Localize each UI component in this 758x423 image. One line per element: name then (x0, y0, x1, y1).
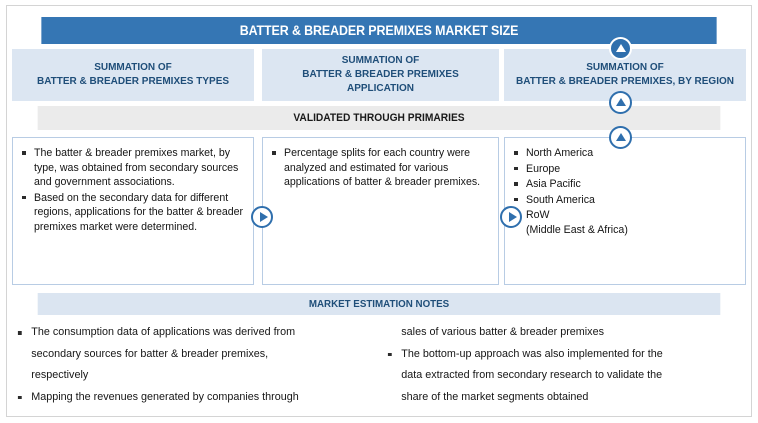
notes-left-list: The consumption data of applications was… (16, 322, 378, 408)
list-item: The batter & breader premixes market, by… (19, 146, 245, 190)
list-item: Based on the secondary data for differen… (19, 191, 245, 235)
summation-box-types: SUMMATION OF BATTER & BREADER PREMIXES T… (12, 49, 254, 101)
up-arrow-icon-2 (609, 91, 632, 114)
infographic-canvas: BATTER & BREADER PREMIXES MARKET SIZE SU… (0, 0, 758, 423)
list-item-label: RoW (526, 209, 550, 221)
summation-box-application: SUMMATION OF BATTER & BREADER PREMIXES A… (262, 49, 499, 101)
list-item-sublabel: (Middle East & Africa) (526, 223, 737, 238)
content-panels-row: The batter & breader premixes market, by… (12, 137, 746, 285)
summation-box-region-line1: SUMMATION OF (586, 61, 664, 75)
panel-regions: North America Europe Asia Pacific South … (504, 137, 746, 285)
panel-application: Percentage splits for each country were … (262, 137, 499, 285)
play-arrow-icon-1 (251, 206, 273, 228)
market-estimation-notes-body: The consumption data of applications was… (12, 322, 746, 414)
summation-boxes-row: SUMMATION OF BATTER & BREADER PREMIXES T… (12, 49, 746, 101)
list-item-continuation: sales of various batter & breader premix… (386, 322, 732, 344)
list-item: RoW (Middle East & Africa) (511, 208, 737, 237)
summation-box-application-line3: APPLICATION (347, 82, 414, 96)
list-item-continuation: share of the market segments obtained (386, 387, 732, 409)
list-item: Percentage splits for each country were … (269, 146, 490, 190)
summation-box-application-line2: BATTER & BREADER PREMIXES (302, 68, 459, 82)
up-triangle (616, 98, 626, 106)
panel-application-list: Percentage splits for each country were … (269, 146, 490, 190)
list-item: The consumption data of applications was… (16, 322, 362, 344)
up-arrow-icon-1 (609, 37, 632, 60)
notes-column-left: The consumption data of applications was… (16, 322, 378, 408)
play-triangle (509, 212, 517, 222)
list-item-continuation: respectively (16, 365, 362, 387)
notes-right-list: sales of various batter & breader premix… (386, 322, 748, 408)
panel-types-list: The batter & breader premixes market, by… (19, 146, 245, 235)
summation-box-types-line1: SUMMATION OF (94, 61, 172, 75)
up-triangle (616, 133, 626, 141)
market-estimation-notes-band: MARKET ESTIMATION NOTES (38, 293, 721, 315)
notes-column-right: sales of various batter & breader premix… (386, 322, 748, 408)
summation-box-application-line1: SUMMATION OF (342, 54, 420, 68)
up-arrow-icon-3 (609, 126, 632, 149)
list-item-continuation: data extracted from secondary research t… (386, 365, 732, 387)
play-arrow-icon-2 (500, 206, 522, 228)
panel-types: The batter & breader premixes market, by… (12, 137, 254, 285)
play-triangle (260, 212, 268, 222)
up-triangle (616, 44, 626, 52)
panel-regions-list: North America Europe Asia Pacific South … (511, 146, 737, 238)
list-item: Mapping the revenues generated by compan… (16, 387, 362, 409)
list-item: South America (511, 193, 737, 208)
list-item-continuation: secondary sources for batter & breader p… (16, 344, 362, 366)
list-item: Asia Pacific (511, 177, 737, 192)
list-item: Europe (511, 162, 737, 177)
list-item: The bottom-up approach was also implemen… (386, 344, 732, 366)
summation-box-region-line2: BATTER & BREADER PREMIXES, BY REGION (516, 75, 734, 89)
summation-box-types-line2: BATTER & BREADER PREMIXES TYPES (37, 75, 229, 89)
